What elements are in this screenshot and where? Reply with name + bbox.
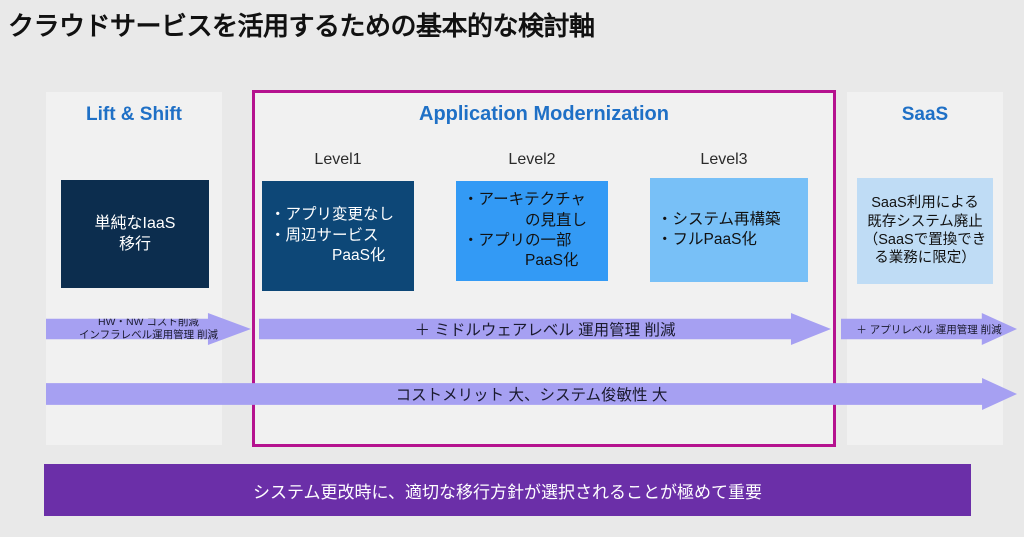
level-label-1: Level1 bbox=[262, 151, 414, 169]
box-saas: SaaS利用による 既存システム廃止 （SaaSで置換でき る業務に限定） bbox=[857, 178, 993, 284]
page-title: クラウドサービスを活用するための基本的な検討軸 bbox=[8, 6, 595, 43]
column-header-app-modernization: Application Modernization bbox=[252, 103, 836, 126]
bottom-banner: システム更改時に、適切な移行方針が選択されることが極めて重要 bbox=[44, 464, 971, 516]
box-level2: ・アーキテクチャ の見直し ・アプリの一部 PaaS化 bbox=[456, 181, 608, 281]
level-label-2: Level2 bbox=[456, 151, 608, 169]
level-label-3: Level3 bbox=[648, 151, 800, 169]
column-header-saas: SaaS bbox=[847, 104, 1003, 126]
box-level3: ・システム再構築 ・フルPaaS化 bbox=[650, 178, 808, 282]
box-level1: ・アプリ変更なし ・周辺サービス PaaS化 bbox=[262, 181, 414, 291]
box-lift-shift-iaas: 単純なIaaS 移行 bbox=[61, 180, 209, 288]
column-header-lift-shift: Lift & Shift bbox=[46, 104, 222, 126]
